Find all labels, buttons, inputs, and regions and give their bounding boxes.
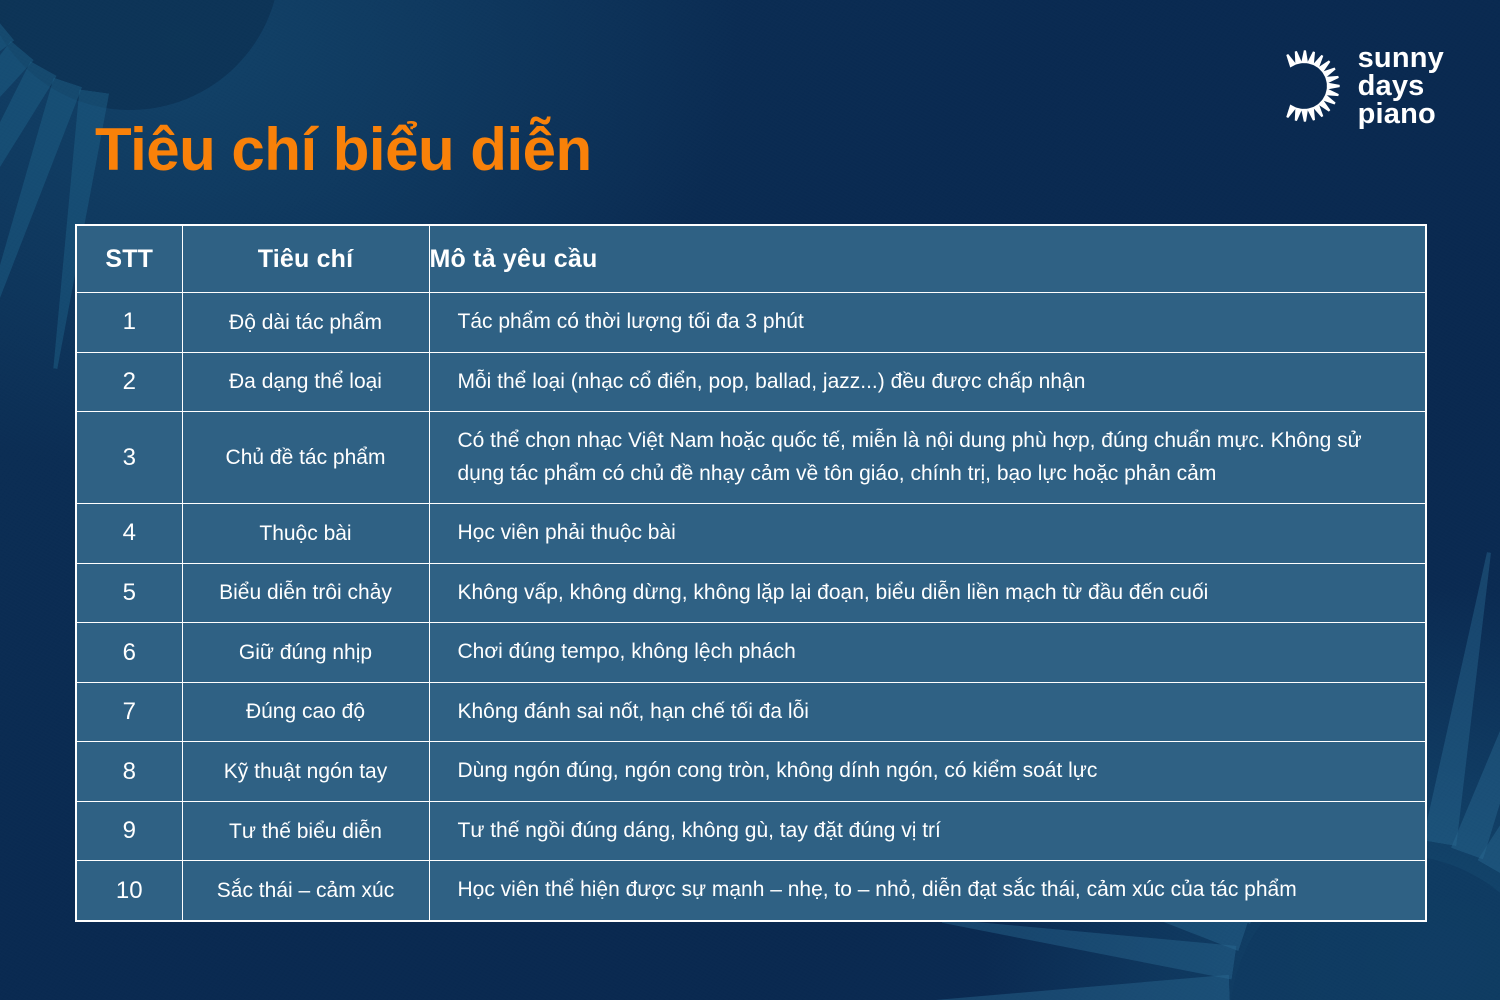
cell-criterion: Kỹ thuật ngón tay: [182, 742, 429, 802]
table-body: 1Độ dài tác phẩmTác phẩm có thời lượng t…: [76, 293, 1426, 922]
brand-logo: sunny days piano: [1266, 44, 1444, 128]
table-row: 10Sắc thái – cảm xúcHọc viên thể hiện đư…: [76, 861, 1426, 921]
cell-criterion: Tư thế biểu diễn: [182, 801, 429, 861]
table-row: 8Kỹ thuật ngón tayDùng ngón đúng, ngón c…: [76, 742, 1426, 802]
decorative-ray: [0, 17, 14, 218]
table-row: 1Độ dài tác phẩmTác phẩm có thời lượng t…: [76, 293, 1426, 353]
table-row: 6Giữ đúng nhịpChơi đúng tempo, không lệc…: [76, 623, 1426, 683]
page-title: Tiêu chí biểu diễn: [95, 118, 592, 181]
cell-criterion: Giữ đúng nhịp: [182, 623, 429, 683]
cell-description: Mỗi thể loại (nhạc cổ điển, pop, ballad,…: [429, 352, 1426, 412]
cell-description: Không vấp, không dừng, không lặp lại đoạ…: [429, 563, 1426, 623]
brand-wordmark: sunny days piano: [1358, 44, 1444, 128]
cell-criterion: Độ dài tác phẩm: [182, 293, 429, 353]
decorative-ray: [0, 41, 34, 275]
cell-description: Không đánh sai nốt, hạn chế tối đa lỗi: [429, 682, 1426, 742]
decorative-ray: [0, 78, 82, 353]
cell-criterion: Chủ đề tác phẩm: [182, 412, 429, 504]
cell-criterion: Thuộc bài: [182, 504, 429, 564]
cell-stt: 5: [76, 563, 182, 623]
table-header-row: STT Tiêu chí Mô tả yêu cầu: [76, 225, 1426, 293]
criteria-table: STT Tiêu chí Mô tả yêu cầu 1Độ dài tác p…: [75, 224, 1427, 922]
cell-description: Học viên thể hiện được sự mạnh – nhẹ, to…: [429, 861, 1426, 921]
cell-stt: 7: [76, 682, 182, 742]
cell-criterion: Đa dạng thể loại: [182, 352, 429, 412]
cell-stt: 2: [76, 352, 182, 412]
brand-line-2: days: [1358, 72, 1444, 100]
cell-stt: 8: [76, 742, 182, 802]
cell-stt: 1: [76, 293, 182, 353]
cell-criterion: Biểu diễn trôi chảy: [182, 563, 429, 623]
table-row: 7Đúng cao độKhông đánh sai nốt, hạn chế …: [76, 682, 1426, 742]
cell-description: Học viên phải thuộc bài: [429, 504, 1426, 564]
cell-stt: 4: [76, 504, 182, 564]
brand-line-1: sunny: [1358, 44, 1444, 72]
cell-stt: 3: [76, 412, 182, 504]
decorative-ray: [0, 61, 57, 320]
table-row: 9Tư thế biểu diễnTư thế ngồi đúng dáng, …: [76, 801, 1426, 861]
cell-stt: 6: [76, 623, 182, 683]
table-header: STT Tiêu chí Mô tả yêu cầu: [76, 225, 1426, 293]
decorative-ray: [934, 975, 1230, 1000]
decorative-ray: [1478, 605, 1500, 877]
decorative-ray: [1423, 550, 1500, 847]
cell-description: Chơi đúng tempo, không lệch phách: [429, 623, 1426, 683]
decorative-ray: [1451, 570, 1500, 859]
table-row: 2Đa dạng thể loạiMỗi thể loại (nhạc cổ đ…: [76, 352, 1426, 412]
table-row: 3Chủ đề tác phẩmCó thể chọn nhạc Việt Na…: [76, 412, 1426, 504]
table-row: 5Biểu diễn trôi chảyKhông vấp, không dừn…: [76, 563, 1426, 623]
cell-criterion: Sắc thái – cảm xúc: [182, 861, 429, 921]
sunburst-icon: [1266, 48, 1342, 124]
cell-description: Có thể chọn nhạc Việt Nam hoặc quốc tế, …: [429, 412, 1426, 504]
sunburst-core: [0, 0, 280, 110]
slide-canvas: sunny days piano Tiêu chí biểu diễn STT …: [0, 0, 1500, 1000]
cell-stt: 9: [76, 801, 182, 861]
cell-description: Tư thế ngồi đúng dáng, không gù, tay đặt…: [429, 801, 1426, 861]
cell-description: Tác phẩm có thời lượng tối đa 3 phút: [429, 293, 1426, 353]
criteria-table-wrapper: STT Tiêu chí Mô tả yêu cầu 1Độ dài tác p…: [75, 224, 1427, 922]
column-header-stt: STT: [76, 225, 182, 293]
cell-description: Dùng ngón đúng, ngón cong tròn, không dí…: [429, 742, 1426, 802]
column-header-criterion: Tiêu chí: [182, 225, 429, 293]
table-row: 4Thuộc bàiHọc viên phải thuộc bài: [76, 504, 1426, 564]
cell-criterion: Đúng cao độ: [182, 682, 429, 742]
column-header-description: Mô tả yêu cầu: [429, 225, 1426, 293]
cell-stt: 10: [76, 861, 182, 921]
brand-line-3: piano: [1358, 100, 1444, 128]
